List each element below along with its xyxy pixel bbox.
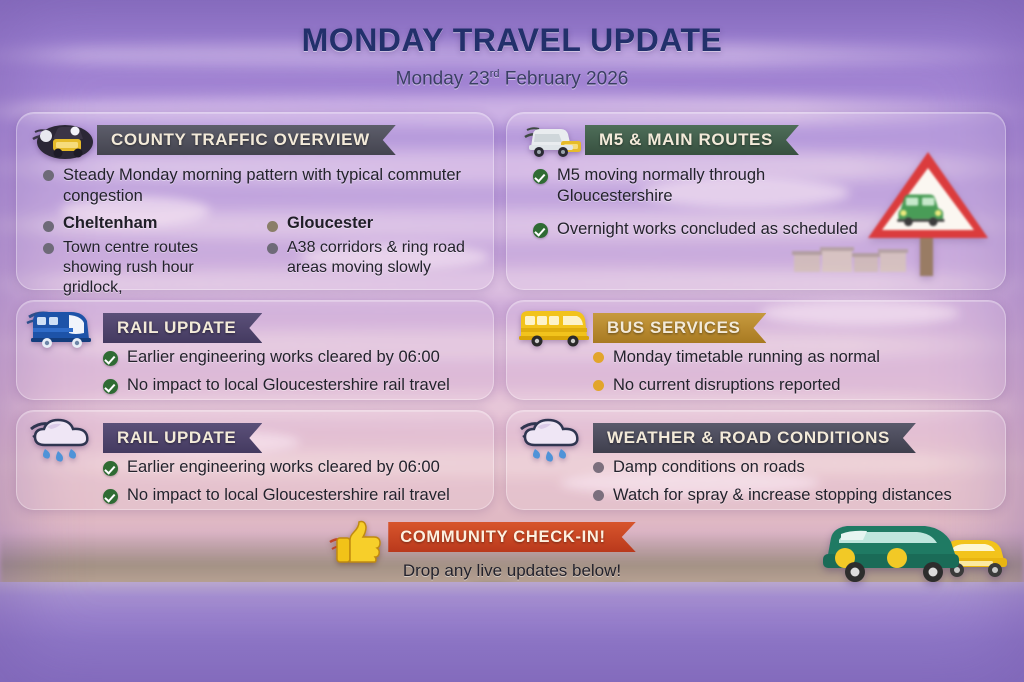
card-rail-update-primary[interactable]: RAIL UPDATE Earlier engineering works cl… — [16, 300, 494, 400]
bullet-text: Earlier engineering works cleared by 06:… — [127, 347, 475, 368]
rain-cloud-icon — [517, 415, 593, 473]
bullet-text: Damp conditions on roads — [613, 457, 987, 478]
car-icon — [31, 117, 97, 163]
column-body-text: Town centre routes showing rush hour gri… — [63, 238, 251, 298]
column-heading-text: Cheltenham — [63, 214, 157, 233]
column-body-text: A38 corridors & ring road areas moving s… — [287, 238, 475, 278]
bullet-text: Overnight works concluded as scheduled — [557, 219, 883, 240]
bullet-dot-icon — [593, 490, 604, 501]
column-body: A38 corridors & ring road areas moving s… — [267, 238, 475, 278]
train-icon — [25, 303, 103, 351]
bullet-text: No impact to local Gloucestershire rail … — [127, 485, 475, 506]
check-circle-icon — [103, 489, 118, 504]
bullet-text: Earlier engineering works cleared by 06:… — [127, 457, 475, 478]
check-circle-icon — [103, 379, 118, 394]
bullet-dot-icon — [593, 462, 604, 473]
bullet-text: No current disruptions reported — [613, 375, 987, 396]
column-body: Town centre routes showing rush hour gri… — [43, 238, 251, 298]
list-item: Earlier engineering works cleared by 06:… — [103, 457, 475, 478]
column-heading-text: Gloucester — [287, 214, 373, 233]
overview-column-gloucester: Gloucester A38 corridors & ring road are… — [267, 214, 475, 298]
date-prefix: Monday 23 — [396, 68, 490, 89]
list-item: No impact to local Gloucestershire rail … — [103, 485, 475, 506]
column-heading: Cheltenham — [43, 214, 251, 233]
road-surface — [0, 582, 1024, 682]
community-banner[interactable]: COMMUNITY CHECK-IN! — [388, 522, 635, 552]
list-item: Damp conditions on roads — [593, 457, 987, 478]
bullet-dot-icon — [43, 243, 54, 254]
card-rail-update-secondary[interactable]: RAIL UPDATE Earlier engineering works cl… — [16, 410, 494, 510]
column-heading: Gloucester — [267, 214, 475, 233]
card-title-weather: WEATHER & ROAD CONDITIONS — [593, 423, 916, 453]
check-circle-icon — [103, 461, 118, 476]
bullet-text: Watch for spray & increase stopping dist… — [613, 485, 987, 506]
rain-cloud-icon — [27, 415, 103, 473]
bullet-text: No impact to local Gloucestershire rail … — [127, 375, 475, 396]
list-item: M5 moving normally through Gloucestershi… — [533, 165, 863, 207]
check-circle-icon — [103, 351, 118, 366]
bullet-text: Steady Monday morning pattern with typic… — [63, 165, 475, 207]
check-circle-icon — [533, 223, 548, 238]
bullet-dot-icon — [593, 352, 604, 363]
card-title-bus: BUS SERVICES — [593, 313, 766, 343]
date-suffix: February 2026 — [499, 68, 628, 89]
overview-columns: Cheltenham Town centre routes showing ru… — [43, 214, 475, 298]
card-weather-road-conditions[interactable]: WEATHER & ROAD CONDITIONS Damp condition… — [506, 410, 1006, 510]
card-county-traffic-overview[interactable]: COUNTY TRAFFIC OVERVIEW Steady Monday mo… — [16, 112, 494, 290]
card-bus-services[interactable]: BUS SERVICES Monday timetable running as… — [506, 300, 1006, 400]
card-title-m5: M5 & MAIN ROUTES — [585, 125, 799, 155]
list-item: No impact to local Gloucestershire rail … — [103, 375, 475, 396]
bus-icon — [515, 303, 599, 351]
card-body-bus: Monday timetable running as normal No cu… — [507, 347, 1005, 403]
page-date: Monday 23rd February 2026 — [0, 68, 1024, 90]
bullet-dot-icon — [267, 243, 278, 254]
van-icon — [521, 117, 587, 163]
card-body-m5: M5 moving normally through Gloucestershi… — [507, 165, 1005, 247]
bullet-dot-icon — [43, 221, 54, 232]
bullet-text: M5 moving normally through Gloucestershi… — [557, 165, 863, 207]
card-body-overview: Steady Monday morning pattern with typic… — [17, 165, 493, 298]
card-title-rail-primary: RAIL UPDATE — [103, 313, 262, 343]
card-body-rail-primary: Earlier engineering works cleared by 06:… — [17, 347, 493, 403]
overview-column-cheltenham: Cheltenham Town centre routes showing ru… — [43, 214, 251, 298]
list-item: Steady Monday morning pattern with typic… — [43, 165, 475, 207]
page-title: MONDAY TRAVEL UPDATE — [0, 22, 1024, 59]
bullet-dot-icon — [267, 221, 278, 232]
card-title-overview: COUNTY TRAFFIC OVERVIEW — [97, 125, 396, 155]
bullet-dot-icon — [593, 380, 604, 391]
list-item: Monday timetable running as normal — [593, 347, 987, 368]
card-title-rail-secondary: RAIL UPDATE — [103, 423, 262, 453]
list-item: No current disruptions reported — [593, 375, 987, 396]
page-header: MONDAY TRAVEL UPDATE Monday 23rd Februar… — [0, 22, 1024, 90]
list-item: Watch for spray & increase stopping dist… — [593, 485, 987, 506]
community-subtitle: Drop any live updates below! — [0, 561, 1024, 581]
bullet-dot-icon — [43, 170, 54, 181]
community-check-in: COMMUNITY CHECK-IN! Drop any live update… — [0, 522, 1024, 581]
list-item: Earlier engineering works cleared by 06:… — [103, 347, 475, 368]
list-item: Overnight works concluded as scheduled — [533, 219, 883, 240]
date-ordinal: rd — [490, 68, 500, 80]
card-m5-main-routes[interactable]: M5 & MAIN ROUTES M5 moving normally thro… — [506, 112, 1006, 290]
bullet-text: Monday timetable running as normal — [613, 347, 987, 368]
thumbs-up-icon — [328, 518, 384, 566]
check-circle-icon — [533, 169, 548, 184]
